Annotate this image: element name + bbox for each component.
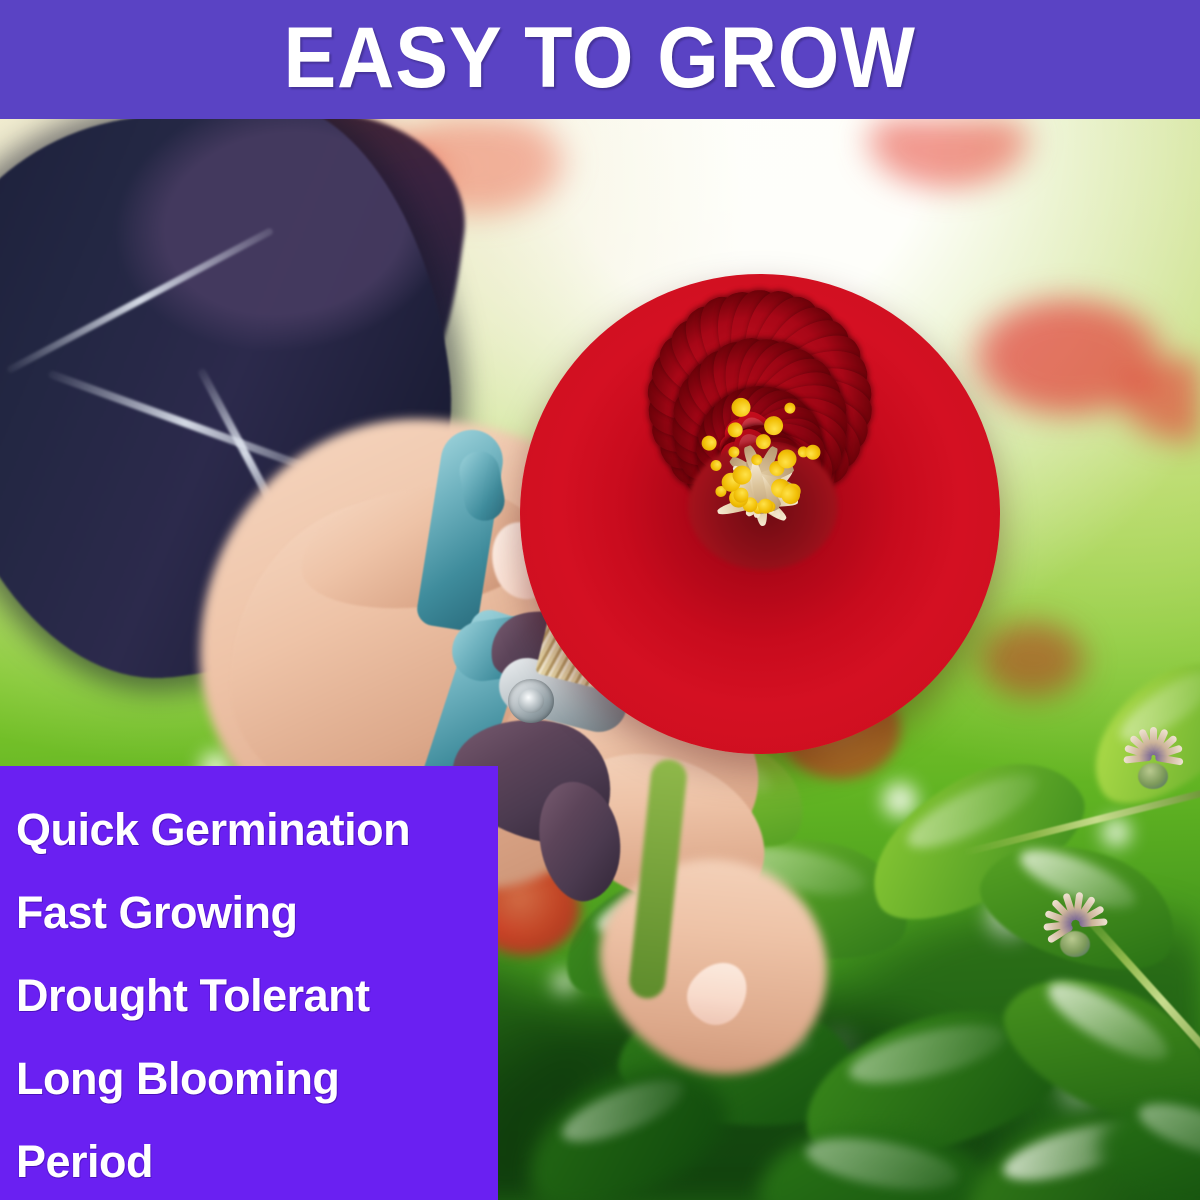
feature-list-box: Quick Germination Fast Growing Drought T… [0,766,498,1200]
zinnia-bloom [520,274,1000,754]
spent-flower-head-upper [1105,709,1200,805]
feature-item-drought-tolerant: Drought Tolerant [16,954,484,1037]
header-banner: EASY TO GROW [0,0,1200,119]
page-title: EASY TO GROW [284,15,916,101]
feature-item-fast-growing: Fast Growing [16,871,484,954]
feature-item-long-blooming-period: Long Blooming Period [16,1037,484,1200]
zinnia-yellow-floret-tip [710,460,721,471]
product-feature-card: EASY TO GROW Quick Germination Fast Grow… [0,0,1200,1200]
zinnia-yellow-floret-tip [805,444,820,459]
spent-flower-head-lower [1020,869,1130,979]
feature-item-quick-germination: Quick Germination [16,788,484,871]
